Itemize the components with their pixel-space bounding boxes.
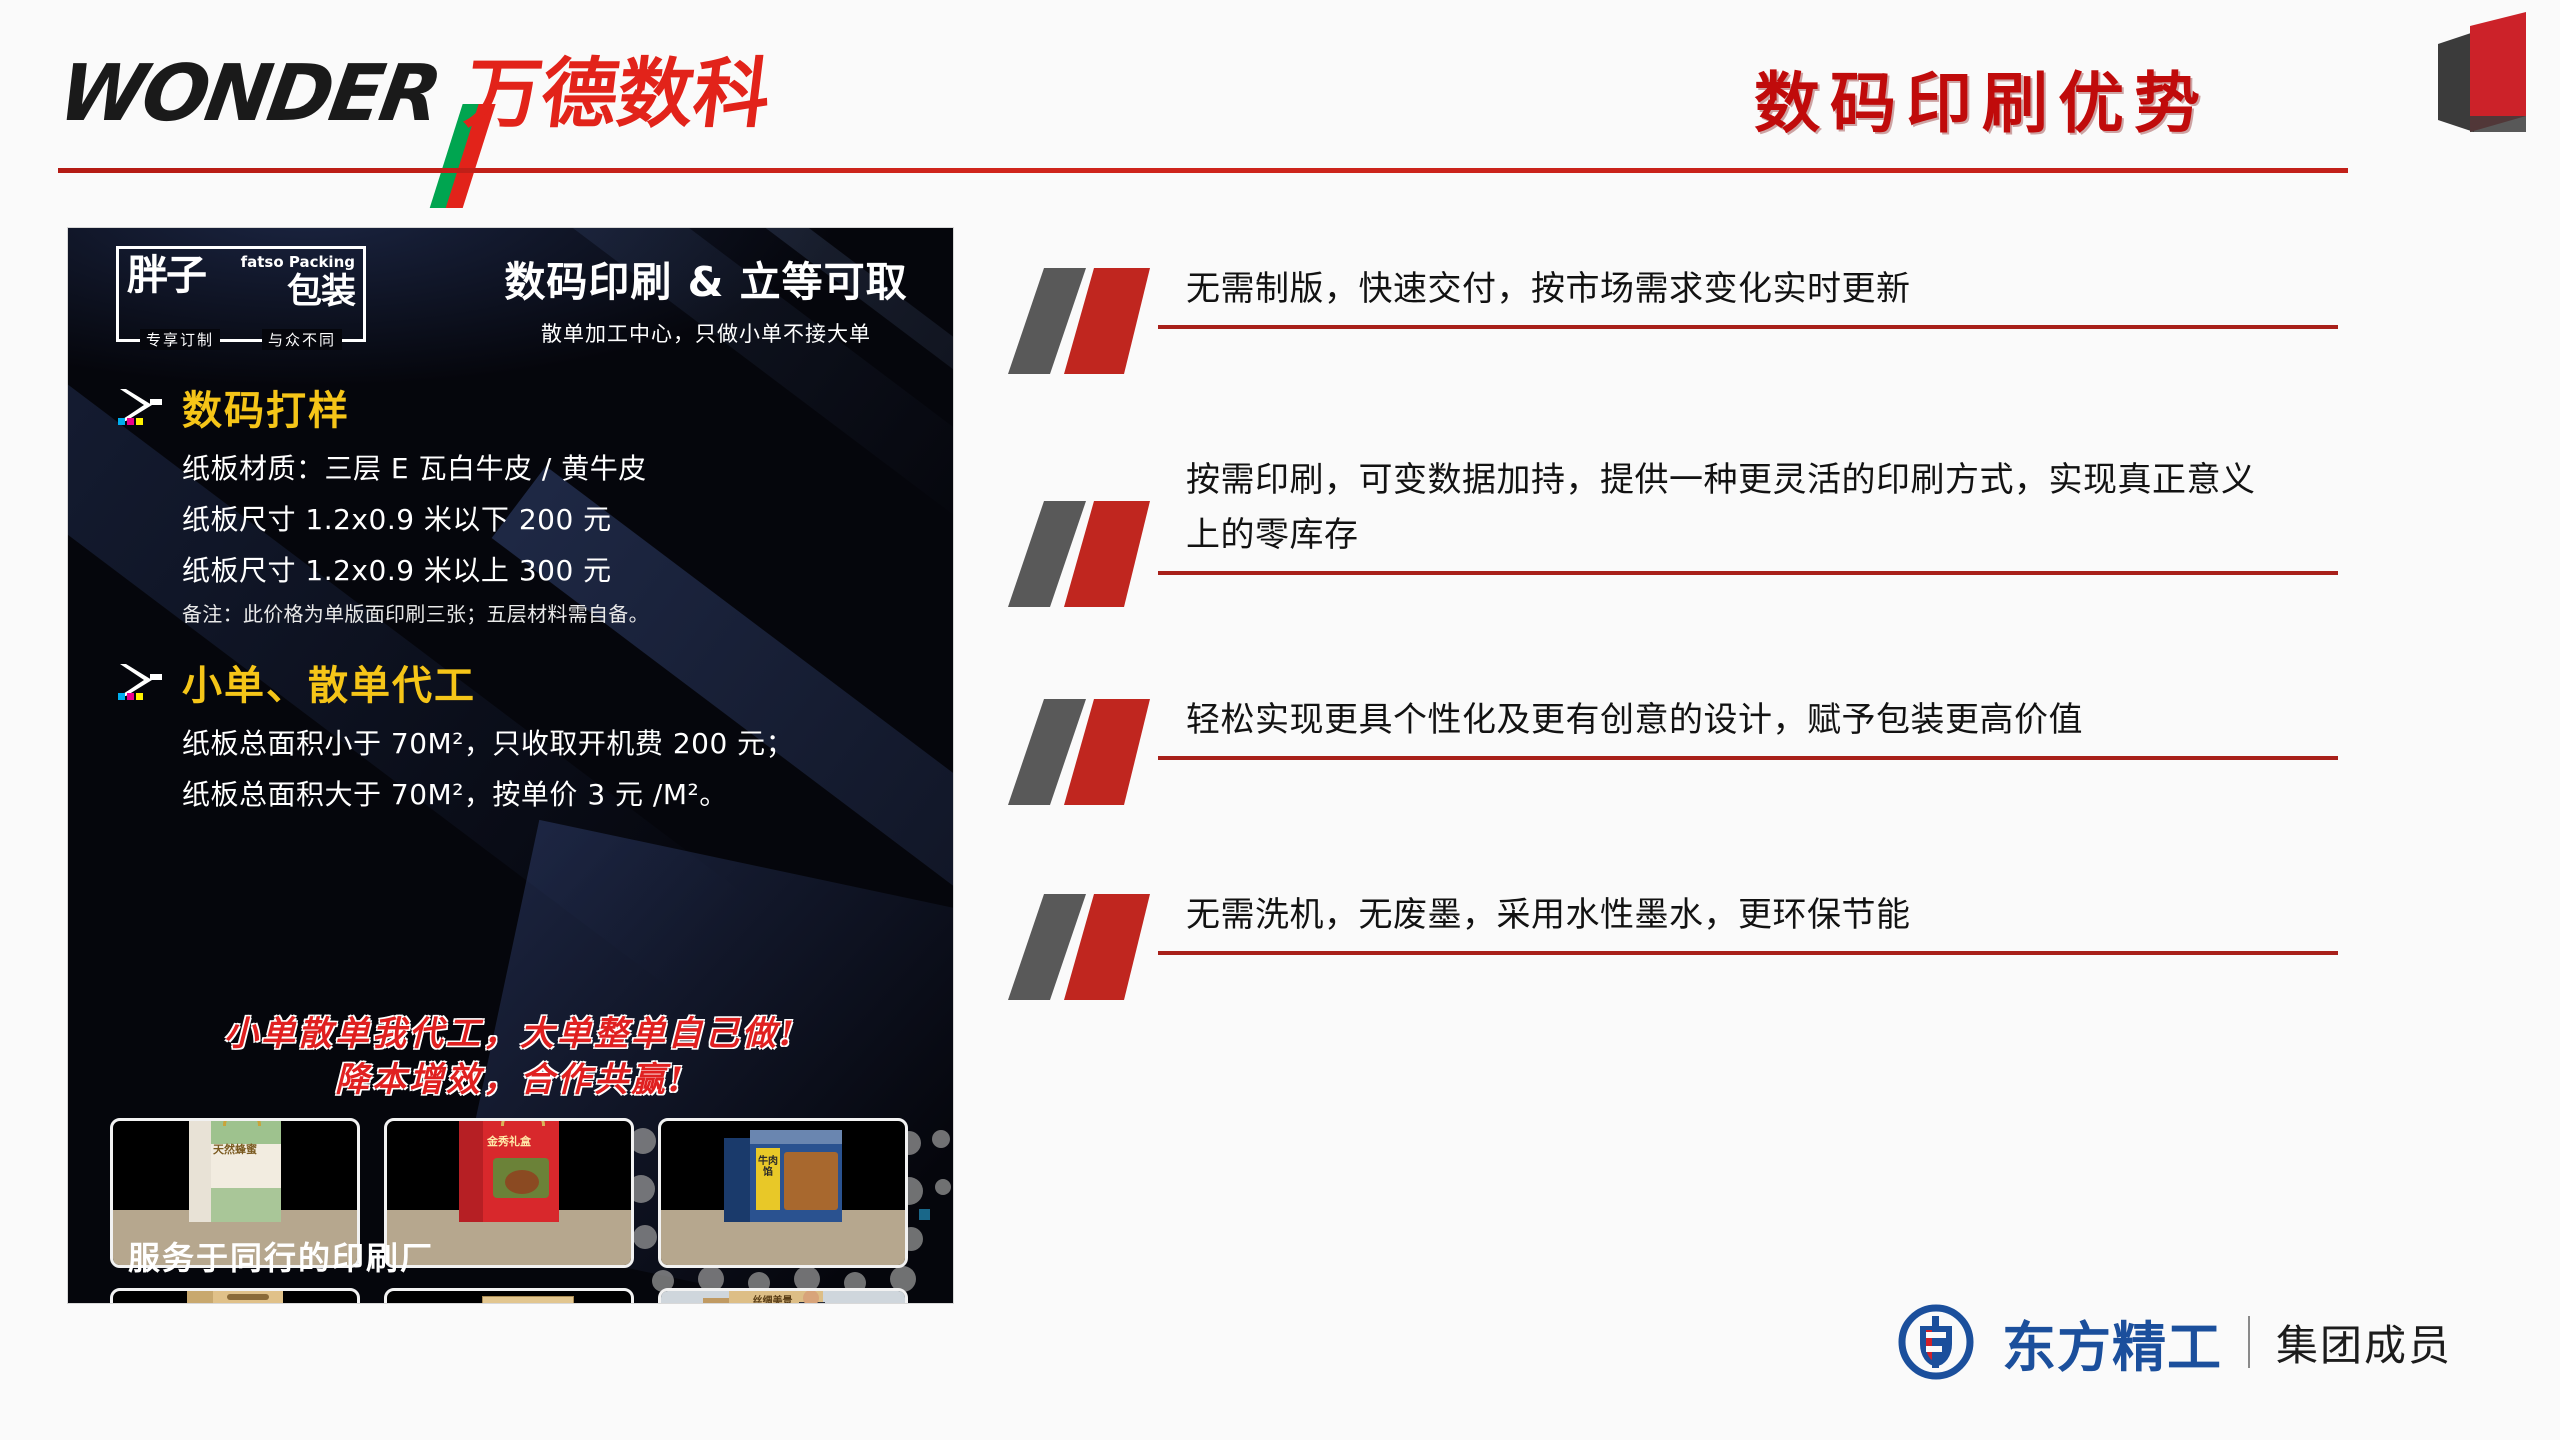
product-photo: 丝绸美景 <box>658 1288 908 1303</box>
advantage-bullet-list: 无需制版，快速交付，按市场需求变化实时更新 按需印刷，可变数据加持，提供一种更灵… <box>1008 262 2338 955</box>
footer-company-name: 东方精工 <box>2002 1303 2222 1382</box>
photo-label: 丝绸美景 <box>737 1296 807 1303</box>
bullet-text: 按需印刷，可变数据加持，提供一种更灵活的印刷方式，实现真正意义上的零库存 <box>1186 453 2266 571</box>
photo-box-shape: 古建礼盒 <box>187 1288 283 1303</box>
wonder-logo-wordmark: WONDER <box>54 55 468 133</box>
group-footer-logo: 东方精工 集团成员 <box>1896 1302 2452 1382</box>
section-note: 备注：此价格为单版面印刷三张；五层材料需自备。 <box>182 598 649 627</box>
fatso-brand-cn: 胖子 <box>127 255 205 296</box>
bullet-text: 无需洗机，无废墨，采用水性墨水，更环保节能 <box>1186 888 2338 951</box>
product-photo: 牛肉馅 <box>658 1118 908 1268</box>
dongfang-emblem-icon <box>1896 1302 1976 1382</box>
photo-box-shape: 丝绸美景 <box>703 1288 823 1303</box>
fatso-tagline-left: 专享订制 <box>140 329 220 350</box>
double-slash-marker-icon <box>1008 262 1178 382</box>
bullet-item: 无需洗机，无废墨，采用水性墨水，更环保节能 <box>1008 888 2338 955</box>
section-line: 纸板材质：三层 E 瓦白牛皮 / 黄牛皮 <box>182 447 649 487</box>
double-slash-marker-icon <box>1008 495 1178 615</box>
double-slash-marker-icon <box>1008 693 1178 813</box>
section-line: 纸板总面积大于 70M²，按单价 3 元 /M²。 <box>182 773 794 813</box>
poster-slogan-line1: 小单散单我代工，大单整单自己做! <box>68 1012 953 1058</box>
poster-slogan: 小单散单我代工，大单整单自己做! 降本增效，合作共赢! <box>68 1012 953 1104</box>
poster-footer-text: 服务于同行的印刷厂 <box>128 1233 434 1279</box>
bullet-text: 无需制版，快速交付，按市场需求变化实时更新 <box>1186 262 2338 325</box>
section-title-text: 小单、散单代工 <box>182 653 476 711</box>
photo-label: 天然蜂蜜 <box>189 1144 281 1156</box>
chevron-arrow-icon <box>116 385 168 429</box>
promo-poster-card: 胖子 fatso Packing 包装 专享订制 与众不同 数码印刷 & 立等可… <box>68 228 953 1303</box>
double-slash-marker-icon <box>1008 888 1178 1008</box>
footer-divider <box>2248 1316 2250 1368</box>
wonder-logo-text-part: WONDER <box>53 49 445 139</box>
poster-header: 胖子 fatso Packing 包装 专享订制 与众不同 数码印刷 & 立等可… <box>68 228 953 360</box>
poster-headline: 数码印刷 & 立等可取 <box>476 248 936 308</box>
photo-label: 金秀礼盒 <box>459 1136 559 1148</box>
poster-subline: 散单加工中心，只做小单不接大单 <box>476 318 936 348</box>
poster-headline-group: 数码印刷 & 立等可取 散单加工中心，只做小单不接大单 <box>476 248 936 348</box>
bullet-item: 按需印刷，可变数据加持，提供一种更灵活的印刷方式，实现真正意义上的零库存 <box>1008 453 2338 575</box>
photo-label: 牛肉馅 <box>754 1156 782 1178</box>
wonder-logo: WONDER 万德数科 <box>60 55 770 133</box>
section-line: 纸板尺寸 1.2x0.9 米以下 200 元 <box>182 498 649 538</box>
wonder-logo-chinese: 万德数科 <box>461 56 774 132</box>
header-divider-rule <box>58 168 2348 173</box>
slide-header: WONDER 万德数科 数码印刷优势 <box>0 0 2560 175</box>
poster-slogan-line2: 降本增效，合作共赢! <box>68 1058 953 1104</box>
bullet-underline <box>1158 756 2338 760</box>
footer-membership-label: 集团成员 <box>2276 1312 2452 1373</box>
slide-root: WONDER 万德数科 数码印刷优势 胖子 fat <box>0 0 2560 1440</box>
section-line: 纸板总面积小于 70M²，只收取开机费 200 元； <box>182 722 794 762</box>
fatso-brand-taglines: 专享订制 与众不同 <box>119 329 363 350</box>
poster-section-proofing: 数码打样 纸板材质：三层 E 瓦白牛皮 / 黄牛皮 纸板尺寸 1.2x0.9 米… <box>116 378 649 627</box>
photo-row-2: 古建礼盒 经典 <box>110 1288 910 1303</box>
photo-box-shape: 经典 <box>444 1296 574 1303</box>
section-line: 纸板尺寸 1.2x0.9 米以上 300 元 <box>182 549 649 589</box>
section-title-row: 数码打样 <box>116 378 649 436</box>
bullet-text: 轻松实现更具个性化及更有创意的设计，赋予包装更高价值 <box>1186 693 2338 756</box>
corner-bookmark-icon <box>2426 8 2538 160</box>
photo-box-shape: 牛肉馅 <box>724 1130 842 1222</box>
poster-section-oem: 小单、散单代工 纸板总面积小于 70M²，只收取开机费 200 元； 纸板总面积… <box>116 653 794 813</box>
fatso-brand-cn2: 包装 <box>287 275 355 310</box>
product-photo: 经典 <box>384 1288 634 1303</box>
fatso-brand-logo: 胖子 fatso Packing 包装 专享订制 与众不同 <box>116 246 366 342</box>
bullet-underline <box>1158 571 2338 575</box>
bullet-underline <box>1158 325 2338 329</box>
product-photo: 古建礼盒 <box>110 1288 360 1303</box>
bullet-item: 无需制版，快速交付，按市场需求变化实时更新 <box>1008 262 2338 329</box>
photo-box-shape: 金秀礼盒 <box>459 1118 559 1222</box>
chevron-arrow-icon <box>116 660 168 704</box>
section-title-row: 小单、散单代工 <box>116 653 794 711</box>
fatso-tagline-right: 与众不同 <box>262 329 342 350</box>
section-title-text: 数码打样 <box>182 378 350 436</box>
bullet-item: 轻松实现更具个性化及更有创意的设计，赋予包装更高价值 <box>1008 693 2338 760</box>
page-title: 数码印刷优势 <box>1754 50 2210 146</box>
bullet-underline <box>1158 951 2338 955</box>
photo-box-shape: 天然蜂蜜 <box>189 1118 281 1222</box>
fatso-brand-en: fatso Packing <box>241 253 355 271</box>
